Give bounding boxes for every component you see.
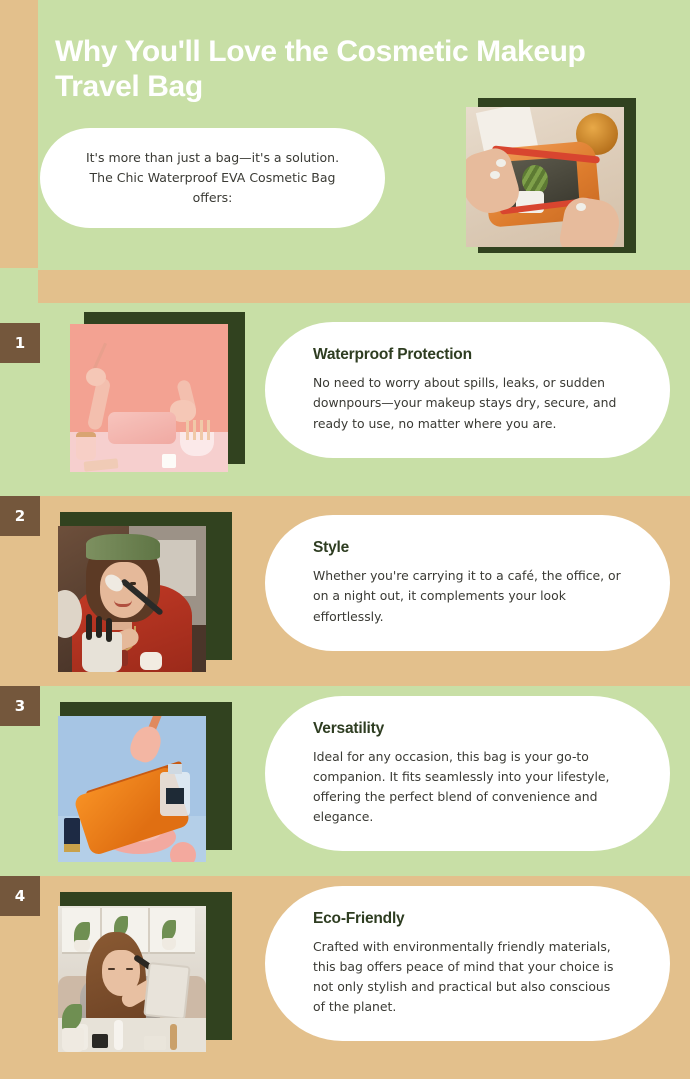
header-hero: Why You'll Love the Cosmetic Makeup Trav… [0, 0, 690, 270]
section-2-heading: Style [313, 539, 624, 557]
section-4-card: Eco-Friendly Crafted with environmentall… [265, 886, 670, 1041]
header-tan-divider-bar [38, 270, 690, 303]
section-2-photo-frame [60, 512, 245, 672]
section-3-body: Ideal for any occasion, this bag is your… [313, 747, 624, 827]
section-2: 2 [0, 496, 690, 686]
section-number-badge: 3 [0, 686, 40, 726]
section-1-card: Waterproof Protection No need to worry a… [265, 322, 670, 458]
section-4-body: Crafted with environmentally friendly ma… [313, 937, 624, 1017]
section-3-card: Versatility Ideal for any occasion, this… [265, 696, 670, 851]
section-1-body: No need to worry about spills, leaks, or… [313, 373, 624, 433]
section-number-badge: 2 [0, 496, 40, 536]
section-4-heading: Eco-Friendly [313, 910, 624, 928]
section-4: 4 [0, 876, 690, 1079]
header-photo-frame [466, 93, 636, 253]
section-2-body: Whether you're carrying it to a café, th… [313, 566, 624, 626]
section-2-card: Style Whether you're carrying it to a ca… [265, 515, 670, 651]
section-3: 3 Versatility Ideal for [0, 686, 690, 876]
section-1-photo [70, 324, 228, 472]
section-4-photo [58, 906, 206, 1052]
infographic-page: Why You'll Love the Cosmetic Makeup Trav… [0, 0, 690, 1079]
section-1-heading: Waterproof Protection [313, 346, 624, 364]
section-number-badge: 4 [0, 876, 40, 916]
section-3-photo-frame [60, 702, 245, 862]
section-4-photo-frame [60, 892, 245, 1052]
header-photo [466, 107, 624, 247]
section-number-badge: 1 [0, 323, 40, 363]
section-1-photo-frame [70, 312, 245, 472]
intro-bubble: It's more than just a bag—it's a solutio… [40, 128, 385, 228]
section-1: 1 [0, 303, 690, 496]
section-3-photo [58, 716, 206, 862]
intro-text: It's more than just a bag—it's a solutio… [74, 148, 351, 209]
section-2-photo [58, 526, 206, 672]
section-3-heading: Versatility [313, 720, 624, 738]
